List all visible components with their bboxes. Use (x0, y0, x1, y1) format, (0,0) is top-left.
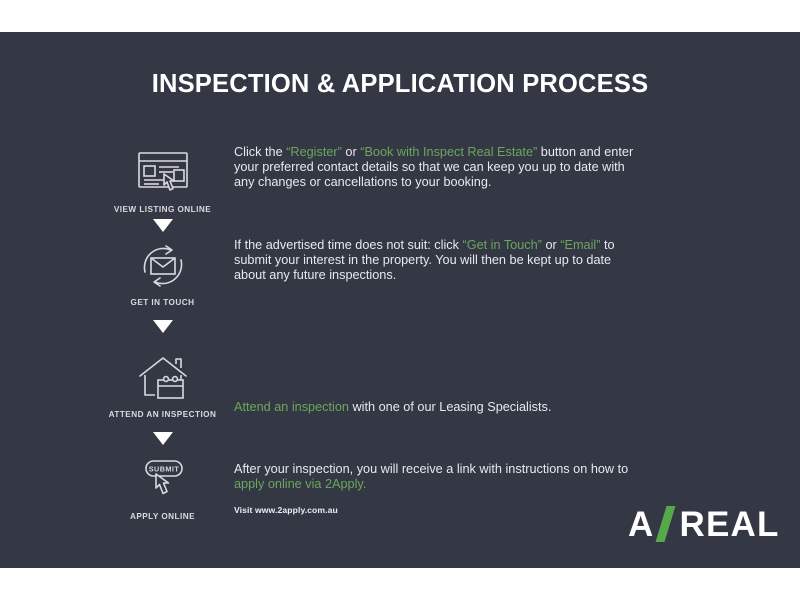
step-label: APPLY ONLINE (95, 512, 230, 521)
visit-url-note: Visit www.2apply.com.au (234, 503, 634, 518)
step-label: ATTEND AN INSPECTION (95, 410, 230, 419)
body-segment: or (542, 238, 560, 252)
body-segment: or (342, 145, 360, 159)
body-highlight: apply online via 2Apply. (234, 477, 366, 491)
step-connector-arrow-1 (95, 219, 230, 232)
body-segment: Click the (234, 145, 286, 159)
chevron-down-icon (153, 320, 173, 333)
step-body-text: Click the “Register” or “Book with Inspe… (234, 145, 634, 191)
step-icon-column: ATTEND AN INSPECTION (95, 350, 230, 419)
body-segment: with one of our Leasing Specialists. (349, 400, 551, 414)
logo-mark-letter: A (628, 507, 654, 542)
step-body-text: If the advertised time does not suit: cl… (234, 238, 634, 284)
envelope-refresh-icon (95, 238, 230, 294)
step-body-text: After your inspection, you will receive … (234, 462, 634, 519)
chevron-down-icon (153, 432, 173, 445)
chevron-down-icon (153, 219, 173, 232)
page-title: INSPECTION & APPLICATION PROCESS (0, 70, 800, 99)
step-connector-arrow-3 (95, 432, 230, 445)
body-segment: After your inspection, you will receive … (234, 462, 628, 476)
logo-slash-icon (656, 506, 676, 542)
step-label: GET IN TOUCH (95, 298, 230, 307)
content-panel: INSPECTION & APPLICATION PROCESS (0, 32, 800, 568)
step-body-text: Attend an inspection with one of our Lea… (234, 400, 634, 415)
body-highlight: Attend an inspection (234, 400, 349, 414)
submit-button-cursor-icon: SUBMIT (95, 452, 230, 508)
slide-canvas: INSPECTION & APPLICATION PROCESS (0, 0, 800, 600)
step-connector-arrow-2 (95, 320, 230, 333)
body-highlight: “Email” (560, 238, 600, 252)
step-icon-column: VIEW LISTING ONLINE (95, 145, 230, 214)
body-highlight: “Register” (286, 145, 342, 159)
house-calendar-icon (95, 350, 230, 406)
body-highlight: “Get in Touch” (462, 238, 541, 252)
body-highlight: “Book with Inspect Real Estate” (360, 145, 537, 159)
listing-window-cursor-icon (95, 145, 230, 201)
brand-logo: A REAL (628, 504, 780, 544)
logo-wordmark: REAL (679, 507, 779, 542)
step-icon-column: GET IN TOUCH (95, 238, 230, 307)
step-icon-column: SUBMIT APPLY ONLINE (95, 452, 230, 521)
svg-text:SUBMIT: SUBMIT (148, 465, 179, 474)
step-label: VIEW LISTING ONLINE (95, 205, 230, 214)
body-segment: If the advertised time does not suit: cl… (234, 238, 462, 252)
